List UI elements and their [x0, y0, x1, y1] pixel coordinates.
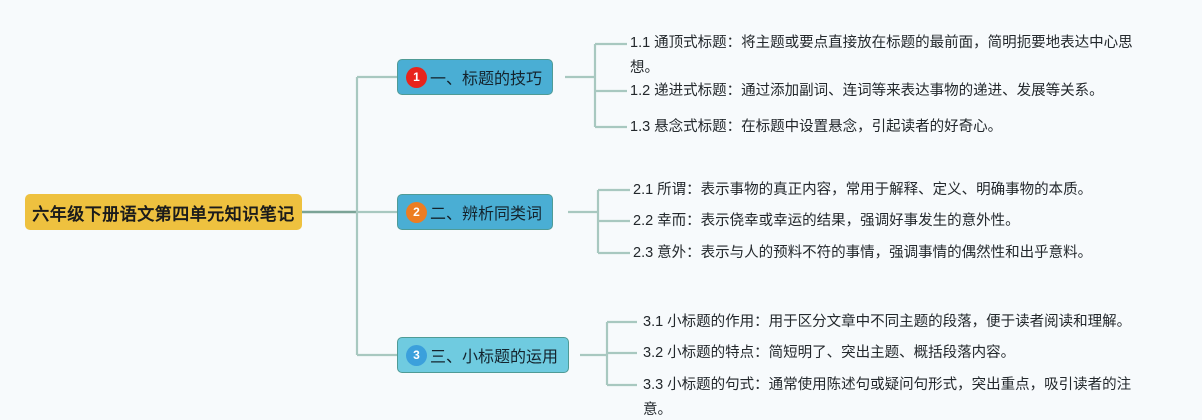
branch-node-1-label: 一、标题的技巧	[428, 65, 552, 89]
branch-node-2[interactable]: 2 二、辨析同类词	[397, 194, 553, 230]
branch-badge-3-icon: 3	[406, 345, 427, 366]
branch-badge-1-icon: 1	[406, 67, 427, 88]
mindmap-canvas: 六年级下册语文第四单元知识笔记 1 一、标题的技巧 2 二、辨析同类词 3 三、…	[0, 0, 1202, 420]
branch-node-3-label: 三、小标题的运用	[428, 343, 568, 367]
leaf-node-3-3[interactable]: 3.3 小标题的句式：通常使用陈述句或疑问句形式，突出重点，吸引读者的注意。	[643, 373, 1153, 420]
branch-badge-2-icon: 2	[406, 202, 427, 223]
leaf-node-1-1[interactable]: 1.1 通顶式标题：将主题或要点直接放在标题的最前面，简明扼要地表达中心思想。	[630, 31, 1135, 81]
leaf-node-3-2[interactable]: 3.2 小标题的特点：简短明了、突出主题、概括段落内容。	[643, 341, 1143, 366]
branch-node-1[interactable]: 1 一、标题的技巧	[397, 59, 553, 95]
leaf-node-3-1[interactable]: 3.1 小标题的作用：用于区分文章中不同主题的段落，便于读者阅读和理解。	[643, 310, 1143, 335]
root-node-label: 六年级下册语文第四单元知识笔记	[32, 200, 295, 225]
root-node[interactable]: 六年级下册语文第四单元知识笔记	[25, 194, 302, 230]
leaf-node-2-3[interactable]: 2.3 意外：表示与人的预料不符的事情，强调事情的偶然性和出乎意料。	[633, 241, 1113, 266]
leaf-node-1-3[interactable]: 1.3 悬念式标题：在标题中设置悬念，引起读者的好奇心。	[630, 115, 1130, 140]
leaf-node-2-1[interactable]: 2.1 所谓：表示事物的真正内容，常用于解释、定义、明确事物的本质。	[633, 178, 1113, 203]
branch-node-3[interactable]: 3 三、小标题的运用	[397, 337, 569, 373]
leaf-node-2-2[interactable]: 2.2 幸而：表示侥幸或幸运的结果，强调好事发生的意外性。	[633, 209, 1113, 234]
branch-node-2-label: 二、辨析同类词	[428, 200, 552, 224]
leaf-node-1-2[interactable]: 1.2 递进式标题：通过添加副词、连词等来表达事物的递进、发展等关系。	[630, 79, 1130, 104]
